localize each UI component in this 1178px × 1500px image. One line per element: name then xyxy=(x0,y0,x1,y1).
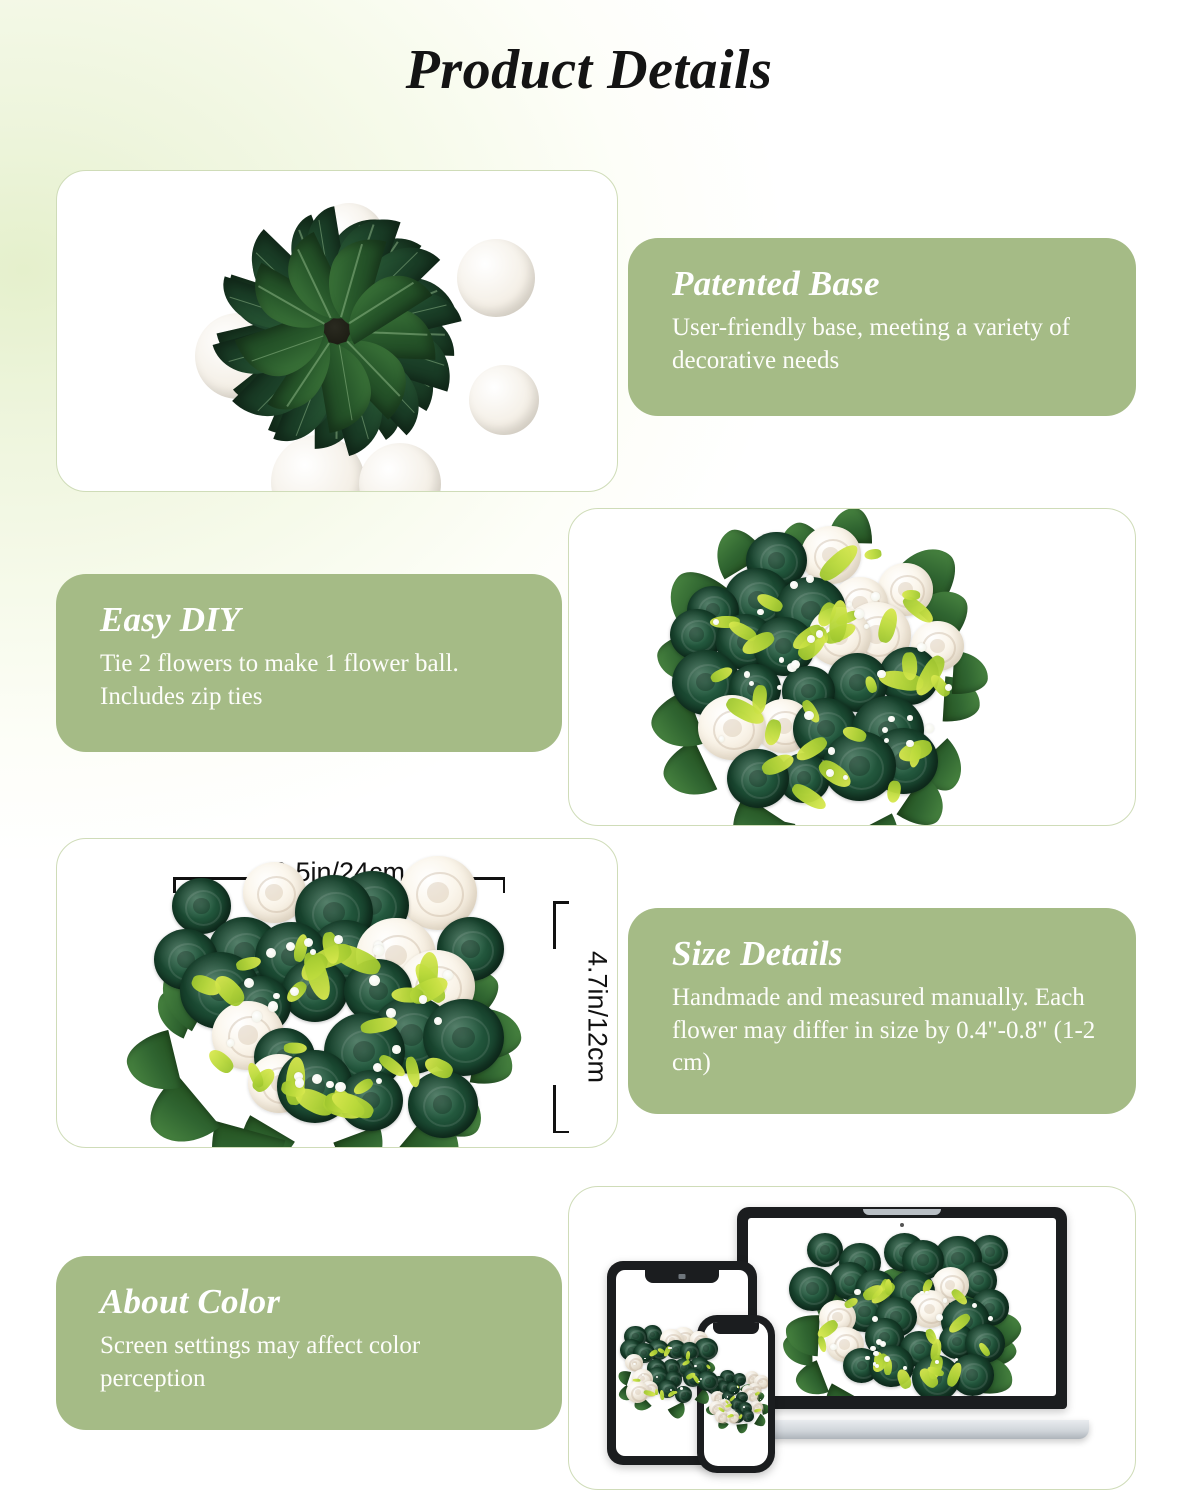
device-mockups xyxy=(569,1187,1135,1489)
babys-breath xyxy=(945,684,952,691)
babys-breath xyxy=(790,581,798,589)
babys-breath xyxy=(828,747,836,755)
white-rose xyxy=(359,443,441,492)
babys-breath xyxy=(877,670,885,678)
leaf xyxy=(121,1030,181,1099)
white-rose xyxy=(469,365,539,435)
babys-breath xyxy=(633,1363,635,1365)
panel-heading-patented-base: Patented Base xyxy=(672,264,1102,303)
babys-breath xyxy=(791,660,800,669)
babys-breath xyxy=(335,1082,346,1093)
babys-breath xyxy=(807,635,815,643)
babys-breath xyxy=(847,602,852,607)
babys-breath xyxy=(326,1081,334,1089)
babys-breath xyxy=(854,609,864,619)
babys-breath xyxy=(917,643,926,652)
panel-body-easy-diy: Tie 2 flowers to make 1 flower ball. Inc… xyxy=(100,648,528,713)
image-card-devices xyxy=(568,1186,1136,1490)
babys-breath xyxy=(700,1378,702,1380)
babys-breath xyxy=(434,1017,442,1025)
babys-breath xyxy=(392,1045,400,1053)
filler-sprig xyxy=(885,1279,893,1295)
babys-breath xyxy=(972,1303,977,1308)
babys-breath xyxy=(668,1347,670,1349)
panel-easy-diy: Easy DIY Tie 2 flowers to make 1 flower … xyxy=(56,574,562,752)
babys-breath xyxy=(760,1399,761,1400)
babys-breath xyxy=(252,1011,263,1022)
babys-breath xyxy=(872,1316,878,1322)
panel-size-details: Size Details Handmade and measured manua… xyxy=(628,908,1136,1114)
babys-breath xyxy=(273,993,279,999)
image-card-flower-ball xyxy=(568,508,1136,826)
leaf xyxy=(668,1401,689,1420)
babys-breath xyxy=(310,949,316,955)
babys-breath xyxy=(925,724,934,733)
leaf xyxy=(736,1423,748,1433)
panel-body-about-color: Screen settings may affect color percept… xyxy=(100,1330,528,1395)
dimension-height-label: 4.7in/12cm xyxy=(584,951,611,1083)
babys-breath xyxy=(830,1344,837,1351)
panel-heading-easy-diy: Easy DIY xyxy=(100,600,528,639)
babys-breath xyxy=(936,1314,943,1321)
babys-breath xyxy=(888,716,895,723)
leaf xyxy=(754,1414,768,1429)
babys-breath xyxy=(244,978,254,988)
leaf xyxy=(616,1369,631,1385)
dimension-height: 4.7in/12cm xyxy=(535,901,591,1133)
babys-breath xyxy=(719,736,725,742)
babys-breath xyxy=(369,975,380,986)
babys-breath xyxy=(386,1008,396,1018)
babys-breath xyxy=(713,619,719,625)
panel-about-color: About Color Screen settings may affect c… xyxy=(56,1256,562,1430)
babys-breath xyxy=(871,592,880,601)
babys-breath xyxy=(373,1063,382,1072)
babys-breath xyxy=(419,995,427,1003)
panel-heading-size-details: Size Details xyxy=(672,934,1102,973)
babys-breath xyxy=(373,945,384,956)
babys-breath xyxy=(737,1386,738,1387)
panel-heading-about-color: About Color xyxy=(100,1282,528,1321)
babys-breath xyxy=(906,740,913,747)
photo-size-arrangement xyxy=(157,901,509,1116)
green-rose xyxy=(807,1233,843,1267)
babys-breath xyxy=(907,715,913,721)
babys-breath xyxy=(988,1316,993,1321)
babys-breath xyxy=(943,1298,948,1303)
babys-breath xyxy=(312,1074,322,1084)
image-card-size-details: 9.5in/24cm 4.7in/12cm xyxy=(56,838,618,1148)
photo-flower-ball xyxy=(665,515,971,821)
babys-breath xyxy=(884,1356,890,1362)
babys-breath xyxy=(727,1396,728,1397)
babys-breath xyxy=(816,630,823,637)
babys-breath xyxy=(804,711,813,720)
babys-breath xyxy=(268,1001,279,1012)
panel-body-size-details: Handmade and measured manually. Each flo… xyxy=(672,982,1102,1080)
babys-breath xyxy=(680,1387,683,1390)
babys-breath xyxy=(779,657,785,663)
green-rose xyxy=(675,1386,692,1402)
green-rose xyxy=(697,1371,719,1391)
babys-breath xyxy=(719,1400,720,1401)
panel-patented-base: Patented Base User-friendly base, meetin… xyxy=(628,238,1136,416)
filler-sprig xyxy=(864,548,882,560)
babys-breath xyxy=(865,1356,869,1360)
babys-breath xyxy=(903,1366,907,1370)
page-title: Product Details xyxy=(0,38,1178,102)
laptop-mockup xyxy=(737,1207,1067,1439)
panel-body-patented-base: User-friendly base, meeting a variety of… xyxy=(672,312,1102,377)
babys-breath xyxy=(443,970,453,980)
photo-patented-base xyxy=(57,171,617,491)
babys-breath xyxy=(935,1360,939,1364)
white-rose xyxy=(457,239,535,317)
babys-breath xyxy=(925,1291,928,1294)
babys-breath xyxy=(698,1381,700,1383)
filler-sprig xyxy=(886,780,902,803)
image-card-patented-base xyxy=(56,170,618,492)
filler-sprig xyxy=(902,589,920,600)
